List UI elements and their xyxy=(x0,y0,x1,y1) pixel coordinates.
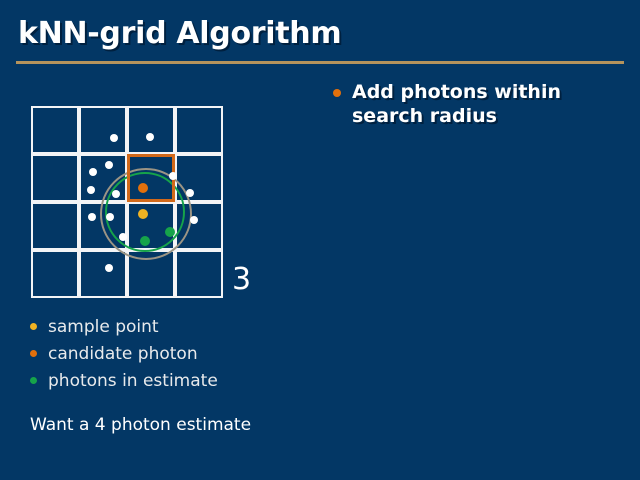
bullet-list: Add photons within search radius xyxy=(333,80,623,128)
photon-in-estimate-dot xyxy=(140,236,150,246)
grid-cell xyxy=(31,250,79,298)
legend-item-photons-in-estimate: photons in estimate xyxy=(30,367,310,394)
bullet-item-label: Add photons within search radius xyxy=(352,80,592,128)
bullet-item-add-photons: Add photons within search radius xyxy=(333,80,623,128)
photon-dot xyxy=(106,213,114,221)
slide: kNN-grid Algorithm Add photons within se… xyxy=(0,0,640,480)
title-divider xyxy=(16,61,624,64)
photon-dot xyxy=(186,189,194,197)
photon-dot xyxy=(89,168,97,176)
legend-marker-candidate-photon-icon xyxy=(30,350,37,357)
legend-marker-sample-point-icon xyxy=(30,323,37,330)
photon-dot xyxy=(146,133,154,141)
photon-dot xyxy=(119,233,127,241)
page-title: kNN-grid Algorithm xyxy=(18,16,341,51)
legend-label: photons in estimate xyxy=(48,371,218,391)
knn-grid-diagram xyxy=(31,106,222,298)
legend: sample point candidate photon photons in… xyxy=(30,313,310,394)
grid-cell xyxy=(79,250,127,298)
bullet-marker-icon xyxy=(333,89,341,97)
photon-dot xyxy=(112,190,120,198)
photon-dot xyxy=(190,216,198,224)
grid-cell xyxy=(175,106,223,154)
sample-point-dot xyxy=(138,209,148,219)
neighbor-count-label: 3 xyxy=(232,262,251,297)
legend-label: candidate photon xyxy=(48,344,198,364)
photon-in-estimate-dot xyxy=(165,227,175,237)
grid-cell xyxy=(175,250,223,298)
legend-marker-photons-in-estimate-icon xyxy=(30,377,37,384)
photon-dot xyxy=(88,213,96,221)
photon-dot xyxy=(105,161,113,169)
highlighted-grid-cell xyxy=(127,154,175,202)
grid-cell xyxy=(31,106,79,154)
grid-cell xyxy=(31,154,79,202)
grid-cell xyxy=(79,106,127,154)
legend-item-sample-point: sample point xyxy=(30,313,310,340)
grid-cell xyxy=(127,106,175,154)
legend-label: sample point xyxy=(48,317,159,337)
footnote-text: Want a 4 photon estimate xyxy=(30,415,251,435)
photon-dot xyxy=(110,134,118,142)
photon-dot xyxy=(169,172,177,180)
photon-dot xyxy=(87,186,95,194)
photon-dot xyxy=(105,264,113,272)
grid-cell xyxy=(31,202,79,250)
candidate-photon-dot xyxy=(138,183,148,193)
legend-item-candidate-photon: candidate photon xyxy=(30,340,310,367)
